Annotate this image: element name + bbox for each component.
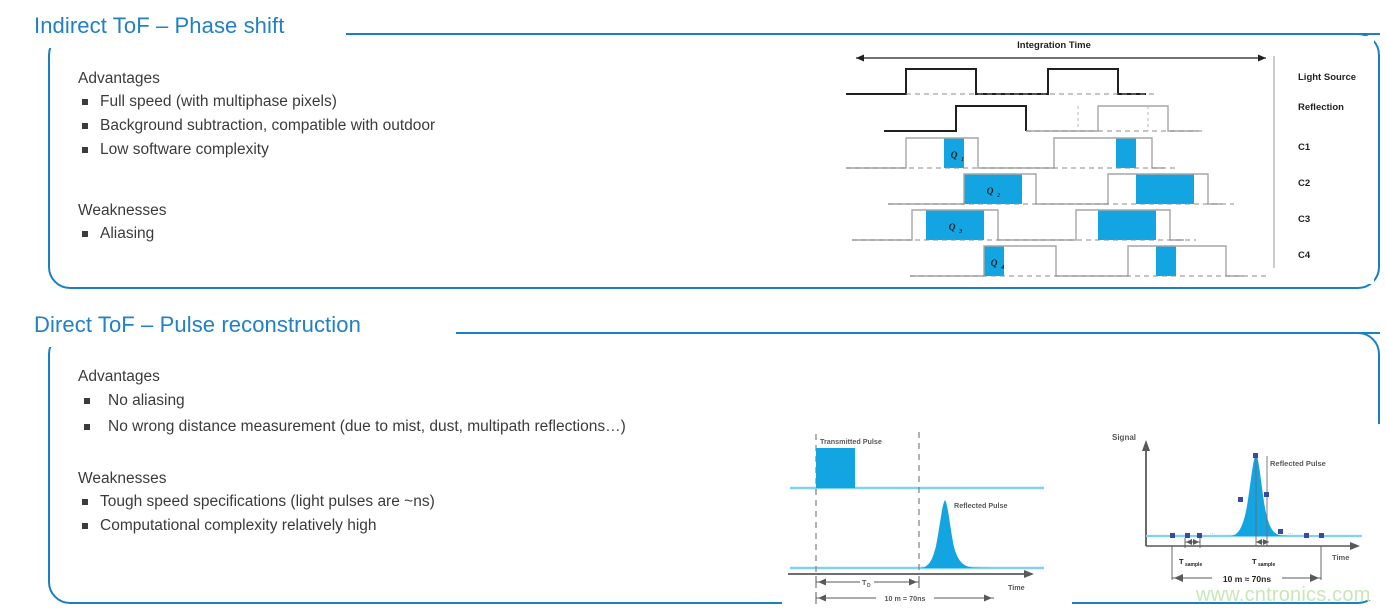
svg-text:Q: Q <box>951 151 958 161</box>
weaknesses-block-indirect: Weaknesses Aliasing <box>78 200 166 246</box>
svg-text:sample: sample <box>1185 562 1202 568</box>
svg-text:Reflected Pulse: Reflected Pulse <box>954 501 1008 510</box>
section-title-indirect-tof: Indirect ToF – Phase shift <box>34 13 284 39</box>
slide-canvas: Indirect ToF – Phase shift Advantages Fu… <box>0 0 1386 615</box>
svg-text:C2: C2 <box>1298 178 1310 189</box>
list-item: Tough speed specifications (light pulses… <box>78 490 435 514</box>
svg-text:C4: C4 <box>1298 250 1311 261</box>
svg-text:Integration Time: Integration Time <box>1017 40 1091 51</box>
svg-text:10 m = 70ns: 10 m = 70ns <box>885 594 926 603</box>
list-item: Low software complexity <box>78 138 435 162</box>
svg-text:T: T <box>1179 557 1184 566</box>
svg-text:Q: Q <box>991 259 998 269</box>
svg-text:C3: C3 <box>1298 214 1310 225</box>
svg-text:...: ... <box>1210 530 1215 536</box>
svg-text:Transmitted Pulse: Transmitted Pulse <box>820 437 882 446</box>
advantages-block-direct: Advantages No aliasing No wrong distance… <box>78 366 626 440</box>
figure-pulse-sampling: Signal Reflected Pulse <box>1104 424 1380 600</box>
svg-text:D: D <box>867 583 871 589</box>
weaknesses-label-indirect: Weaknesses <box>78 200 166 222</box>
advantages-label-indirect: Advantages <box>78 68 435 90</box>
advantages-label-direct: Advantages <box>78 366 626 388</box>
list-item: Aliasing <box>78 222 166 246</box>
title-rule-indirect <box>348 33 1380 35</box>
list-item: No wrong distance measurement (due to mi… <box>78 414 626 440</box>
svg-text:...: ... <box>1288 530 1293 536</box>
weaknesses-list-direct: Tough speed specifications (light pulses… <box>78 490 435 538</box>
svg-text:10 m ≈ 70ns: 10 m ≈ 70ns <box>1223 574 1271 584</box>
list-item: Computational complexity relatively high <box>78 514 435 538</box>
svg-text:Reflected Pulse: Reflected Pulse <box>1270 459 1326 468</box>
svg-text:Light Source: Light Source <box>1298 72 1356 83</box>
section-title-direct-tof: Direct ToF – Pulse reconstruction <box>34 312 361 338</box>
weaknesses-label-direct: Weaknesses <box>78 468 435 490</box>
svg-text:T: T <box>1252 557 1257 566</box>
figure-phase-shift-timing: Integration Time Light Source <box>826 36 1374 284</box>
svg-text:Time: Time <box>1332 553 1349 562</box>
list-item: Full speed (with multiphase pixels) <box>78 90 435 114</box>
svg-text:1: 1 <box>961 156 964 163</box>
title-rule-direct <box>458 332 1380 334</box>
list-item: Background subtraction, compatible with … <box>78 114 435 138</box>
svg-text:Signal: Signal <box>1112 433 1136 442</box>
list-item: No aliasing <box>78 388 626 414</box>
svg-text:sample: sample <box>1258 562 1275 568</box>
svg-text:C1: C1 <box>1298 142 1311 153</box>
watermark-url: www.cntronics.com <box>1196 584 1371 607</box>
weaknesses-block-direct: Weaknesses Tough speed specifications (l… <box>78 468 435 538</box>
advantages-block-indirect: Advantages Full speed (with multiphase p… <box>78 68 435 162</box>
weaknesses-list-indirect: Aliasing <box>78 222 166 246</box>
svg-text:Q: Q <box>949 223 956 233</box>
svg-text:Time: Time <box>1008 583 1025 592</box>
advantages-list-direct: No aliasing No wrong distance measuremen… <box>78 388 626 440</box>
advantages-list-indirect: Full speed (with multiphase pixels) Back… <box>78 90 435 162</box>
svg-text:Q: Q <box>987 187 994 197</box>
figure-pulse-time: Transmitted Pulse Reflected Pulse Time T <box>782 420 1072 605</box>
svg-text:Reflection: Reflection <box>1298 102 1344 113</box>
